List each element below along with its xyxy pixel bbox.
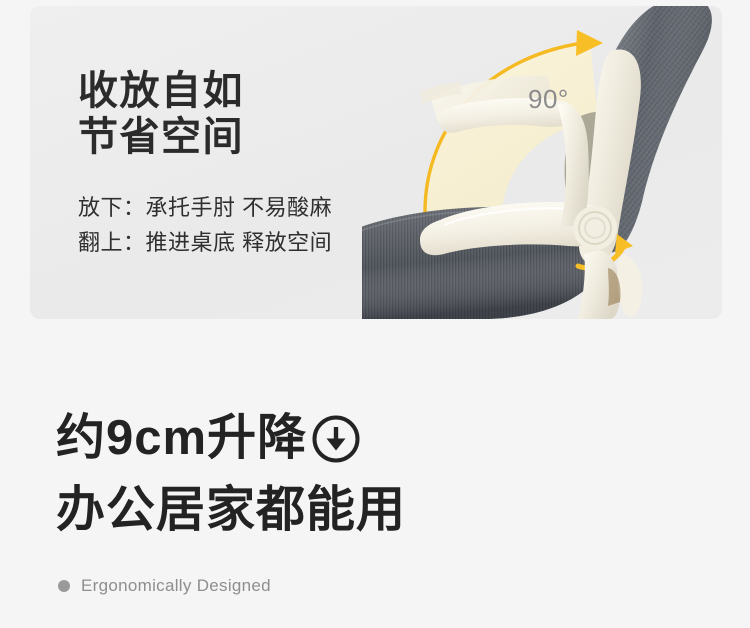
hero-headline-row-1: 约9cm升降 xyxy=(56,410,361,466)
hero-headline-line-2: 办公居家都能用 xyxy=(56,482,406,538)
chair-base-arm xyxy=(617,254,642,317)
arrow-down-circle-icon xyxy=(311,414,361,464)
card-title-line-2: 节省空间 xyxy=(78,114,332,160)
card-subtitle-line-2: 翻上：推进桌底 释放空间 xyxy=(78,225,332,260)
bullet-dot-icon xyxy=(58,580,70,592)
hero-headline-line-1: 约9cm升降 xyxy=(56,410,307,466)
hero-block: 约9cm升降 办公居家都能用 Ergonomically Designed xyxy=(0,330,750,628)
angle-label: 90° xyxy=(528,84,569,115)
chair-illustration xyxy=(362,6,722,319)
feature-card-subtitles: 放下：承托手肘 不易酸麻 翻上：推进桌底 释放空间 xyxy=(78,190,332,260)
feature-card-copy: 收放自如 节省空间 放下：承托手肘 不易酸麻 翻上：推进桌底 释放空间 xyxy=(78,68,332,260)
feature-card: 90° 收放自如 节省空间 放下：承托手肘 不易酸麻 翻上：推进桌底 释放空间 xyxy=(30,6,722,319)
hero-caption: Ergonomically Designed xyxy=(58,576,271,596)
card-subtitle-line-1: 放下：承托手肘 不易酸麻 xyxy=(78,190,332,225)
card-title-line-1: 收放自如 xyxy=(78,68,332,114)
hero-caption-text: Ergonomically Designed xyxy=(81,576,271,596)
pivot-hub xyxy=(573,206,617,250)
